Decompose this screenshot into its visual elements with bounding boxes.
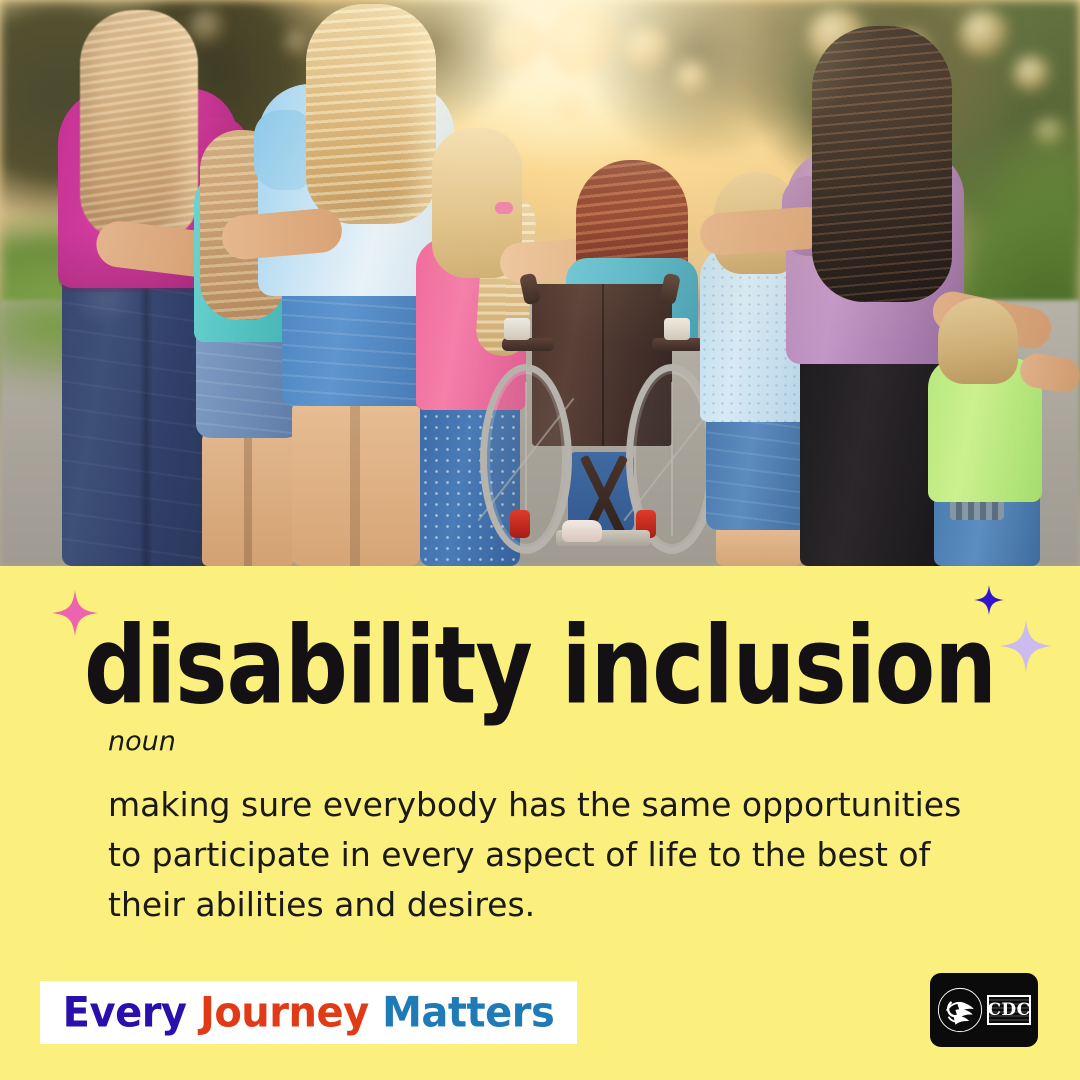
poster-canvas: disability inclusion noun making sure ev…: [0, 0, 1080, 1080]
hair-blonde-long: [306, 4, 436, 224]
hair-tie: [495, 202, 513, 214]
hhs-seal-icon: [937, 987, 983, 1033]
entry-definition: making sure everybody has the same oppor…: [108, 780, 998, 930]
cdc-logo: CDC: [930, 973, 1038, 1047]
cdc-wordmark-text: CDC: [988, 1002, 1031, 1019]
tagline-word-matters: Matters: [382, 988, 554, 1036]
sparkle-lavender-icon: [1000, 620, 1052, 672]
bare-legs: [716, 524, 802, 566]
campaign-tagline: Every Journey Matters: [63, 992, 555, 1034]
entry-term: disability inclusion: [84, 612, 996, 719]
campaign-banner: Every Journey Matters: [40, 981, 577, 1044]
seated-shoe: [562, 520, 602, 542]
hair-blond: [938, 298, 1018, 384]
wheelchair-pad-left: [504, 318, 530, 340]
wheelchair-pad-right: [664, 318, 690, 340]
wheelchair-handle-right: [659, 273, 681, 306]
hero-photo: [0, 0, 1080, 566]
denim-shorts: [706, 408, 810, 530]
hair-blonde-long: [80, 10, 198, 240]
cdc-wordmark: CDC: [987, 995, 1031, 1025]
hair-dark-long: [812, 26, 952, 302]
entry-part-of-speech: noun: [108, 726, 176, 757]
tagline-word-every: Every: [63, 988, 187, 1036]
wheelchair-handle-left: [519, 273, 541, 306]
sleeve-light-blue: [254, 110, 310, 190]
bare-legs: [292, 400, 420, 566]
wheelchair-reflector-left: [510, 510, 530, 538]
arm-on-shoulder: [699, 206, 830, 257]
bare-legs: [202, 430, 294, 566]
wheelchair: [486, 272, 714, 566]
tagline-word-journey: Journey: [200, 988, 369, 1036]
shorts-blue: [282, 278, 428, 406]
